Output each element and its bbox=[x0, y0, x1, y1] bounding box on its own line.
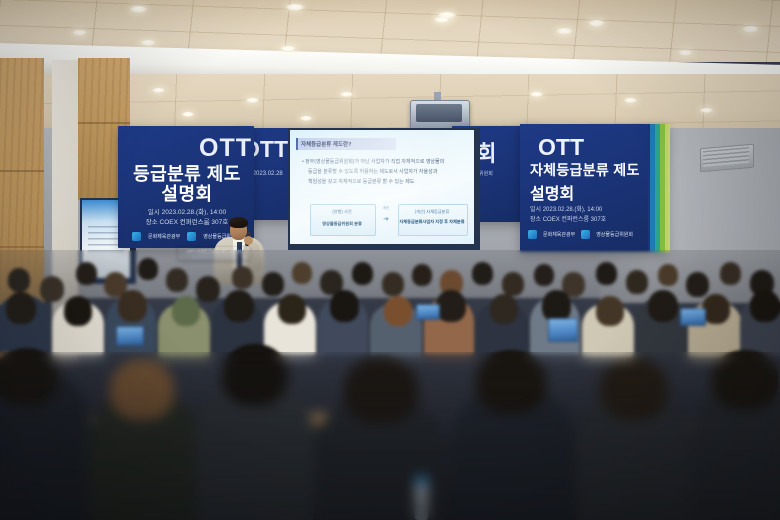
panel-seam bbox=[78, 122, 130, 124]
audience-head bbox=[118, 290, 147, 322]
slide-flow-left-header: (현행) 사전 bbox=[310, 209, 374, 215]
laptop bbox=[548, 318, 578, 342]
banner-right-line2: 설명회 bbox=[530, 180, 660, 204]
audience-head bbox=[648, 290, 678, 322]
ministry-logo-icon bbox=[528, 230, 537, 239]
panel-seam bbox=[0, 170, 44, 172]
slide-flow-left-body: 영상물등급위원회 분류 bbox=[310, 221, 374, 227]
audience-head bbox=[330, 290, 359, 322]
audience-head bbox=[382, 272, 404, 296]
board-logo-icon bbox=[187, 232, 196, 241]
banner-right-where: 장소 COEX 컨퍼런스룸 307호 bbox=[530, 214, 660, 223]
downlight bbox=[700, 108, 713, 113]
board-logo-icon bbox=[581, 230, 590, 239]
slide-title: 자체등급분류 제도란? bbox=[301, 140, 393, 148]
audience-head bbox=[224, 290, 254, 322]
slide-flow-right-header: (개선) 자체등급분류 bbox=[398, 209, 466, 215]
banner-left-ott: OTT bbox=[160, 134, 252, 163]
downlight bbox=[678, 50, 693, 56]
slide-body-line: 책임성을 갖고 자체적으로 등급분류 할 수 있는 제도 bbox=[308, 178, 470, 185]
audience-head bbox=[40, 276, 64, 302]
downlight bbox=[182, 112, 194, 117]
audience-head bbox=[292, 262, 312, 284]
audience-head bbox=[658, 264, 678, 286]
laptop bbox=[680, 308, 706, 326]
audience-head bbox=[534, 264, 554, 286]
banner-right-logo-ministry: 문화체육관광부 bbox=[543, 231, 575, 238]
downlight bbox=[624, 98, 637, 103]
slide-body-line: • 정부(영상물등급위원회)가 아닌 사업자가 직접 자체적으로 영상물의 bbox=[302, 158, 470, 165]
audience-head bbox=[76, 262, 97, 285]
audience-head bbox=[384, 296, 412, 326]
audience-head bbox=[712, 350, 778, 410]
conference-hall-photo: OTT 일시 2023.02.28 명회 영상물등급위원회 OTT 등급분류 제… bbox=[0, 0, 780, 520]
banner-right-logos: 문화체육관광부 영상물등급위원회 bbox=[528, 228, 664, 240]
audience-head bbox=[596, 296, 624, 326]
downlight bbox=[280, 46, 296, 52]
audience-head bbox=[720, 262, 741, 285]
banner-right-when: 일시 2023.02.28.(화), 14:00 bbox=[530, 204, 660, 213]
downlight bbox=[152, 88, 165, 93]
audience-head bbox=[6, 292, 36, 324]
downlight bbox=[530, 92, 543, 97]
downlight bbox=[340, 92, 353, 97]
audience-head bbox=[750, 290, 780, 322]
water-bottle-cap bbox=[415, 476, 428, 485]
audience-head bbox=[64, 296, 92, 326]
downlight bbox=[434, 17, 450, 23]
audience-head bbox=[222, 344, 288, 406]
audience-head bbox=[172, 296, 200, 326]
audience-head bbox=[412, 264, 432, 286]
downlight bbox=[140, 40, 156, 46]
banner-left-when: 일시 2023.02.28.(화), 14:00 bbox=[124, 206, 250, 216]
slide-flow-arrow-label: 개선 bbox=[374, 206, 398, 211]
banner-left-logo-ministry: 문화체육관광부 bbox=[148, 233, 180, 240]
banner-right-line1: 자체등급분류 제도 bbox=[530, 160, 660, 180]
audience-head bbox=[166, 268, 188, 292]
audience-head bbox=[196, 276, 220, 302]
audience-head bbox=[502, 272, 524, 296]
audience-head bbox=[600, 358, 668, 420]
banner-right-logo-board: 영상물등급위원회 bbox=[596, 231, 633, 238]
audience-head bbox=[436, 290, 466, 322]
downlight bbox=[286, 4, 304, 11]
laptop bbox=[116, 326, 144, 346]
banner-left-line2: 설명회 bbox=[124, 180, 250, 206]
downlight bbox=[588, 20, 605, 27]
slide-body-line: 등급을 분류할 수 있도록 허용하는 제도로서 사업자가 자율성과 bbox=[308, 168, 470, 175]
downlight bbox=[130, 6, 147, 13]
downlight bbox=[300, 116, 312, 121]
downlight bbox=[72, 30, 87, 36]
water-bottle bbox=[415, 482, 428, 520]
laptop bbox=[416, 304, 440, 320]
audience-head bbox=[278, 294, 306, 324]
audience-head bbox=[8, 268, 30, 292]
audience-head bbox=[490, 294, 518, 324]
audience-head bbox=[476, 350, 546, 414]
audience-head bbox=[138, 258, 158, 280]
downlight bbox=[246, 98, 259, 103]
downlight bbox=[742, 26, 759, 33]
panel-seam bbox=[0, 246, 44, 248]
speaker-hair bbox=[229, 217, 248, 228]
audience-head bbox=[344, 356, 418, 424]
audience-head bbox=[0, 348, 58, 406]
audience-head bbox=[626, 270, 648, 294]
audience-head bbox=[702, 294, 730, 324]
slide-flow-right-body: 자체등급분류사업자 지정 후 자체분류 bbox=[398, 219, 466, 225]
banner-right-ott: OTT bbox=[538, 134, 648, 161]
audience-head bbox=[232, 266, 253, 289]
projector-lens bbox=[416, 104, 462, 122]
audience-head bbox=[686, 272, 709, 297]
audience-head bbox=[110, 360, 174, 420]
speaker-hand bbox=[244, 236, 253, 245]
audience-head bbox=[596, 262, 617, 285]
audience-head bbox=[472, 262, 493, 285]
ministry-logo-icon bbox=[132, 232, 141, 241]
downlight bbox=[556, 28, 573, 35]
audience-head bbox=[262, 272, 284, 296]
audience-head bbox=[352, 262, 373, 285]
arrow-right-icon: ➜ bbox=[378, 214, 394, 224]
